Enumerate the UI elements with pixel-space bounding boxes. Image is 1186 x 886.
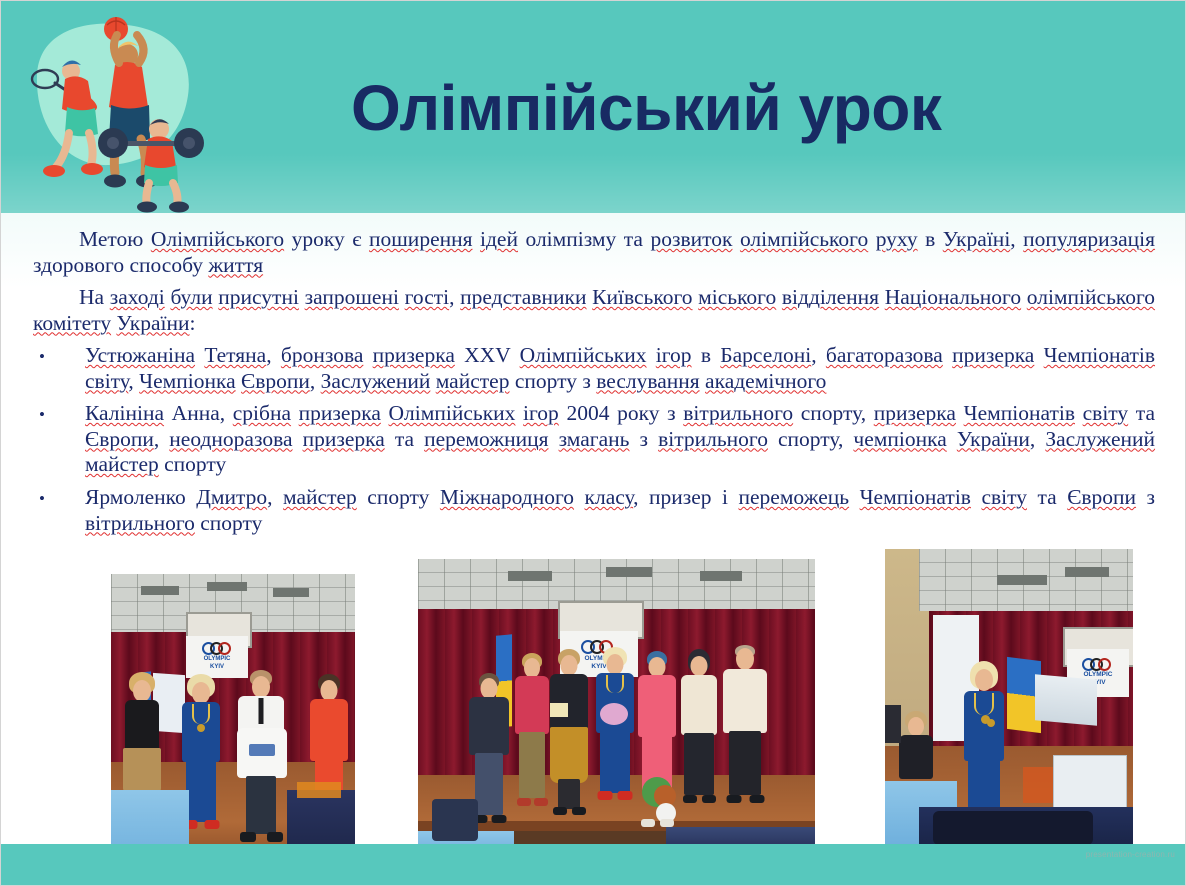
sports-athletes-illustration <box>9 5 229 213</box>
text-run: в <box>692 343 721 367</box>
text-run: срібна <box>233 401 291 425</box>
text-run: Чемпіонатів <box>1044 343 1155 367</box>
text-run: ідей <box>480 227 518 251</box>
banner-olympic-label: OLYMPIC <box>186 656 248 662</box>
text-run <box>515 401 523 425</box>
text-run: академічного <box>705 369 826 393</box>
text-run: та <box>1027 485 1067 509</box>
text-run: Україні <box>943 227 1011 251</box>
text-run: Київського <box>592 285 692 309</box>
text-run: присутні <box>218 285 299 309</box>
text-run: Європи <box>241 369 310 393</box>
list-item-text: Устюжаніна Тетяна, бронзова призерка XXV… <box>85 343 1155 394</box>
text-run: переможець <box>738 485 849 509</box>
watermark-label: presentation-creation.ru <box>1086 850 1175 859</box>
text-run: призерка <box>299 401 381 425</box>
text-run: багаторазова <box>826 343 943 367</box>
text-run <box>381 401 389 425</box>
header-band: Олімпійський урок <box>1 1 1186 213</box>
list-item: • Калініна Анна, срібна призерка Олімпій… <box>33 401 1155 478</box>
text-run: гості <box>405 285 449 309</box>
text-run: спорту <box>195 511 263 535</box>
text-run: призерка <box>952 343 1034 367</box>
text-run <box>956 401 964 425</box>
text-run: призерка <box>303 427 385 451</box>
text-run: , <box>154 427 169 451</box>
text-run: , <box>310 369 321 393</box>
text-run: заході <box>110 285 165 309</box>
text-run <box>1075 401 1083 425</box>
text-run: , призер і <box>633 485 738 509</box>
text-run <box>971 485 982 509</box>
text-run: переможниця <box>424 427 548 451</box>
text-run: Олімпійського <box>151 227 284 251</box>
text-run: ігор <box>656 343 692 367</box>
text-run: класу <box>585 485 634 509</box>
text-run: та <box>1128 401 1155 425</box>
text-run: Європи <box>85 427 154 451</box>
text-run: майстер <box>85 452 159 476</box>
bullet-marker: • <box>39 402 45 428</box>
text-run: Калініна <box>85 401 164 425</box>
page-title: Олімпійський урок <box>351 61 1051 156</box>
list-item: • Ярмоленко Дмитро, майстер спорту Міжна… <box>33 485 1155 536</box>
text-run: майстер <box>283 485 357 509</box>
text-run: України <box>957 427 1030 451</box>
text-run: спорту, <box>768 427 853 451</box>
text-run: олімпійського <box>1027 285 1155 309</box>
text-run: та <box>385 427 424 451</box>
text-run: комітету <box>33 311 111 335</box>
text-run: XXV <box>455 343 520 367</box>
text-run: уроку є <box>284 227 369 251</box>
text-run <box>947 427 957 451</box>
text-run: здорового способу <box>33 253 208 277</box>
text-run <box>363 343 372 367</box>
text-run <box>849 485 860 509</box>
text-run: , <box>267 485 283 509</box>
text-run: Чемпіонатів <box>860 485 971 509</box>
text-run: розвиток <box>650 227 732 251</box>
bullet-marker: • <box>39 486 45 512</box>
photo-award-ceremony-tshirt: OLYMPIC KYIV <box>110 573 356 863</box>
slide: Олімпійський урок Метою Олімпійського ур… <box>0 0 1186 886</box>
text-run: Ярмоленко <box>85 485 196 509</box>
text-run: На <box>79 285 110 309</box>
text-run: з <box>1136 485 1155 509</box>
text-run: з <box>629 427 658 451</box>
text-run: ігор <box>523 401 559 425</box>
text-run <box>943 343 952 367</box>
text-run <box>473 227 481 251</box>
text-run <box>1034 343 1043 367</box>
text-run: в <box>918 227 943 251</box>
list-item: • Устюжаніна Тетяна, бронзова призерка X… <box>33 343 1155 394</box>
text-run: Заслужений <box>1045 427 1155 451</box>
text-run <box>293 427 303 451</box>
footer-band <box>1 844 1186 885</box>
text-run: представники <box>460 285 586 309</box>
text-run: 2004 року з <box>559 401 683 425</box>
text-run: міського <box>698 285 776 309</box>
text-run: чемпіонка <box>853 427 946 451</box>
text-run: призерка <box>874 401 956 425</box>
text-run: Чемпіонатів <box>964 401 1075 425</box>
text-run <box>732 227 740 251</box>
text-run: світу <box>981 485 1027 509</box>
text-run: відділення <box>782 285 879 309</box>
text-run: : <box>190 311 196 335</box>
text-run <box>574 485 585 509</box>
text-run: спорту, <box>793 401 874 425</box>
text-run: Заслужений <box>321 369 431 393</box>
text-run: Дмитро <box>196 485 267 509</box>
text-run: Анна, <box>164 401 233 425</box>
text-run: вітрильного <box>683 401 793 425</box>
list-item-text: Калініна Анна, срібна призерка Олімпійсь… <box>85 401 1155 478</box>
list-item-text: Ярмоленко Дмитро, майстер спорту Міжнаро… <box>85 485 1155 536</box>
text-run: Метою <box>79 227 151 251</box>
text-run: олімпізму та <box>518 227 651 251</box>
text-run: Міжнародного <box>440 485 574 509</box>
text-run <box>195 343 204 367</box>
text-run: запрошені <box>305 285 399 309</box>
text-run: Олімпійських <box>389 401 516 425</box>
text-run: життя <box>208 253 263 277</box>
text-run: олімпійського <box>740 227 868 251</box>
text-run: неодноразова <box>169 427 292 451</box>
text-run: , <box>1010 227 1023 251</box>
text-run: вітрильного <box>658 427 768 451</box>
text-run: вітрильного <box>85 511 195 535</box>
text-run: України <box>116 311 189 335</box>
text-run: спорту <box>357 485 440 509</box>
text-run <box>647 343 656 367</box>
text-run: призерка <box>373 343 455 367</box>
text-run: змагань <box>559 427 630 451</box>
text-run: поширення <box>369 227 473 251</box>
text-run: Устюжаніна <box>85 343 195 367</box>
bullet-marker: • <box>39 344 45 370</box>
text-run: Чемпіонка <box>139 369 236 393</box>
text-run: Національного <box>885 285 1021 309</box>
text-run: Тетяна <box>204 343 266 367</box>
text-run <box>549 427 559 451</box>
text-run: популяризація <box>1023 227 1155 251</box>
text-run: Олімпійських <box>520 343 647 367</box>
text-run: світу <box>1083 401 1129 425</box>
text-run: спорту з <box>509 369 596 393</box>
photo-athlete-with-medals: OLYMPIC KYIV <box>884 548 1134 863</box>
paragraph-purpose: Метою Олімпійського уроку є поширення ід… <box>33 227 1155 278</box>
text-run: спорту <box>159 452 227 476</box>
text-run <box>868 227 876 251</box>
text-run: , <box>1030 427 1045 451</box>
text-run: , <box>449 285 460 309</box>
text-run: світу <box>85 369 128 393</box>
text-run: Барселоні <box>720 343 811 367</box>
body-text-area: Метою Олімпійського уроку є поширення ід… <box>1 213 1186 553</box>
text-run: , <box>128 369 139 393</box>
text-run: бронзова <box>281 343 363 367</box>
text-run: Європи <box>1067 485 1136 509</box>
text-run: руху <box>876 227 918 251</box>
text-run: були <box>170 285 212 309</box>
text-run: майстер <box>436 369 510 393</box>
paragraph-guests: На заході були присутні запрошені гості,… <box>33 285 1155 336</box>
text-run: , <box>811 343 826 367</box>
text-run: , <box>266 343 281 367</box>
text-run <box>291 401 299 425</box>
photo-group-on-stage: OLYMPIC KYIV <box>417 558 816 854</box>
text-run: веслування <box>596 369 699 393</box>
